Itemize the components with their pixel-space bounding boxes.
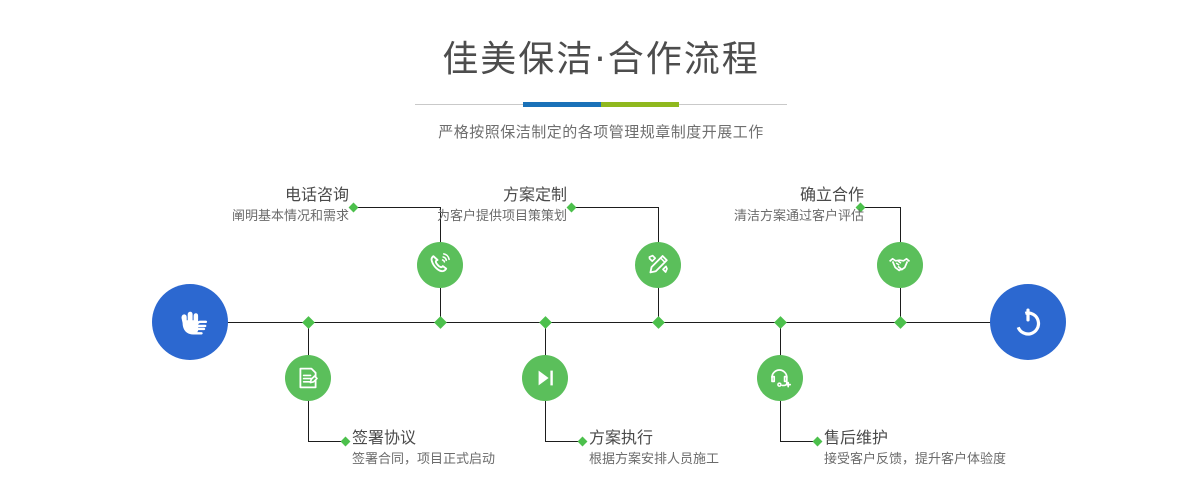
page-title: 佳美保洁·合作流程 [0, 42, 1202, 78]
connector-bottom-3-lower [780, 400, 781, 442]
step-label-3: 方案定制 为客户提供项目策策划 [437, 185, 567, 227]
step-label-5: 确立合作 清洁方案通过客户评估 [734, 185, 864, 227]
step-desc-2: 签署合同，项目正式启动 [352, 450, 495, 470]
axis-diamond-3 [652, 316, 665, 329]
step-title-6: 售后维护 [824, 428, 1006, 448]
axis-diamond-4 [539, 316, 552, 329]
connector-bottom-2-horizontal [545, 441, 581, 442]
header: 佳美保洁·合作流程 严格按照保洁制定的各项管理规章制度开展工作 [0, 0, 1202, 142]
step-desc-4: 根据方案安排人员施工 [589, 450, 719, 470]
label-diamond-bottom-2 [578, 437, 588, 447]
step-node-6[interactable] [757, 355, 803, 401]
page-subtitle: 严格按照保洁制定的各项管理规章制度开展工作 [0, 121, 1202, 142]
step-node-2[interactable] [285, 355, 331, 401]
label-diamond-top-2 [567, 203, 577, 213]
label-diamond-bottom-3 [813, 437, 823, 447]
step-title-5: 确立合作 [734, 185, 864, 205]
label-diamond-bottom-1 [341, 437, 351, 447]
hand-point-right-icon [168, 300, 212, 344]
process-flow-infographic: 佳美保洁·合作流程 严格按照保洁制定的各项管理规章制度开展工作 [0, 0, 1202, 502]
step-title-3: 方案定制 [437, 185, 567, 205]
connector-bottom-1-horizontal [308, 441, 344, 442]
document-edit-icon [295, 365, 321, 391]
step-node-1[interactable] [417, 242, 463, 288]
connector-top-2-horizontal [575, 207, 659, 208]
step-desc-1: 阐明基本情况和需求 [232, 207, 349, 227]
step-node-4[interactable] [522, 355, 568, 401]
axis-diamond-6 [774, 316, 787, 329]
phone-call-icon [427, 252, 453, 278]
axis-diamond-5 [894, 316, 907, 329]
step-node-3[interactable] [635, 242, 681, 288]
connector-top-3-horizontal [864, 207, 901, 208]
divider-blue-segment [523, 102, 601, 107]
divider-green-segment [601, 102, 679, 107]
play-skip-icon [532, 365, 558, 391]
step-desc-5: 清洁方案通过客户评估 [734, 207, 864, 227]
connector-top-2-upper [658, 207, 659, 245]
step-node-5[interactable] [877, 242, 923, 288]
connector-top-1-horizontal [357, 207, 441, 208]
axis-diamond-1 [434, 316, 447, 329]
timeline-end-marker [990, 284, 1066, 360]
title-divider [415, 102, 787, 107]
step-desc-3: 为客户提供项目策策划 [437, 207, 567, 227]
step-label-1: 电话咨询 阐明基本情况和需求 [232, 185, 349, 227]
step-label-6: 售后维护 接受客户反馈，提升客户体验度 [824, 428, 1006, 470]
handshake-icon [887, 252, 913, 278]
step-title-1: 电话咨询 [232, 185, 349, 205]
step-desc-6: 接受客户反馈，提升客户体验度 [824, 450, 1006, 470]
timeline-axis [155, 322, 1050, 323]
connector-bottom-2-lower [545, 400, 546, 442]
connector-bottom-1-lower [308, 400, 309, 442]
label-diamond-top-1 [349, 203, 359, 213]
axis-diamond-2 [302, 316, 315, 329]
step-title-2: 签署协议 [352, 428, 495, 448]
connector-bottom-3-horizontal [780, 441, 816, 442]
timeline-start-marker [152, 284, 228, 360]
step-label-4: 方案执行 根据方案安排人员施工 [589, 428, 719, 470]
step-title-4: 方案执行 [589, 428, 719, 448]
power-icon [1007, 301, 1049, 343]
connector-top-3-upper [900, 207, 901, 245]
step-label-2: 签署协议 签署合同，项目正式启动 [352, 428, 495, 470]
pencil-ruler-icon [645, 252, 671, 278]
customer-service-add-icon [767, 365, 793, 391]
